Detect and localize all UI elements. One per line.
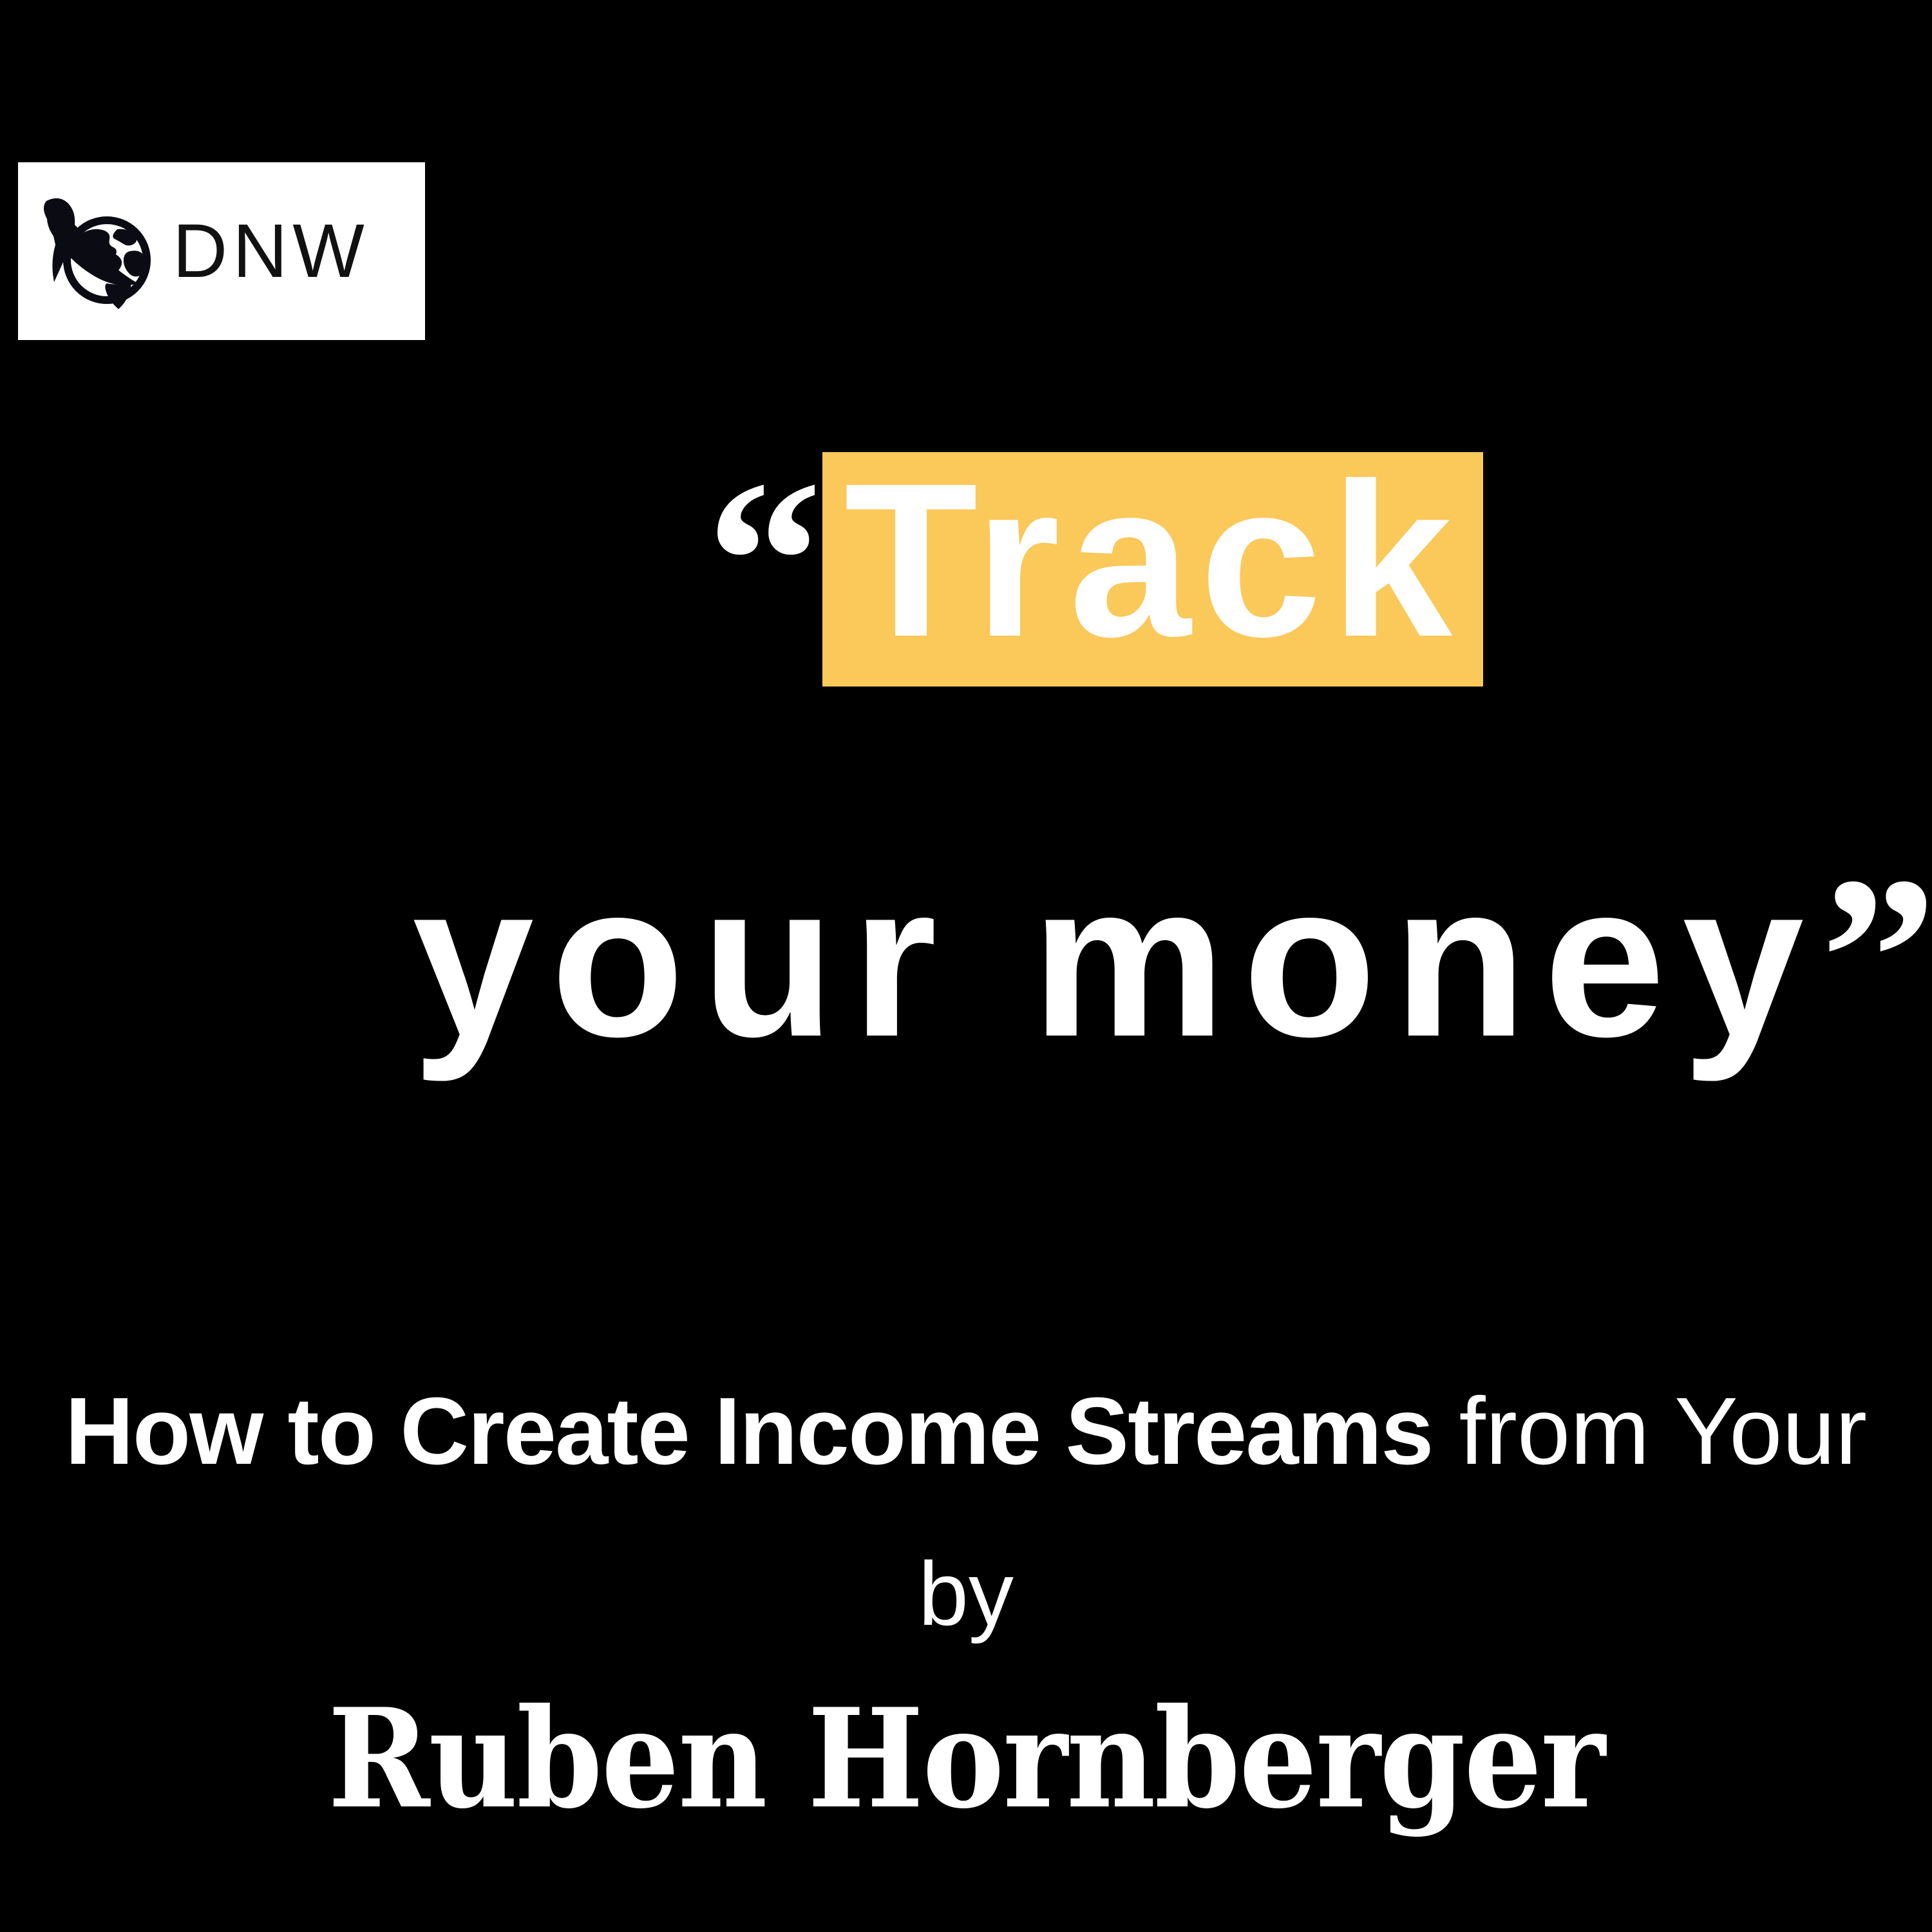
title-rest: your money	[412, 838, 1821, 1083]
byline-label: by	[0, 1549, 1932, 1639]
title-line-2: your money”	[0, 848, 1932, 1070]
cover-title: “Track your money”	[0, 451, 1932, 1070]
logo-wordmark: DNW	[173, 213, 370, 289]
title-line-1: “Track	[0, 451, 1932, 687]
subtitle-light: from Your	[1432, 1378, 1867, 1484]
title-highlighted-word: Track	[822, 452, 1484, 687]
close-quote-mark: ”	[1821, 848, 1932, 1068]
brand-logo-badge[interactable]: DNW	[18, 162, 425, 340]
open-quote-mark: “	[706, 451, 822, 671]
subtitle-bold: How to Create Income Streams	[65, 1378, 1433, 1484]
author-name: Ruben Hornberger	[0, 1687, 1932, 1831]
globe-swoosh-icon	[32, 187, 161, 316]
podcast-cover-art: DNW “Track your money” How to Create Inc…	[0, 0, 1932, 1932]
cover-subtitle: How to Create Income Streams from Your	[65, 1381, 1867, 1481]
